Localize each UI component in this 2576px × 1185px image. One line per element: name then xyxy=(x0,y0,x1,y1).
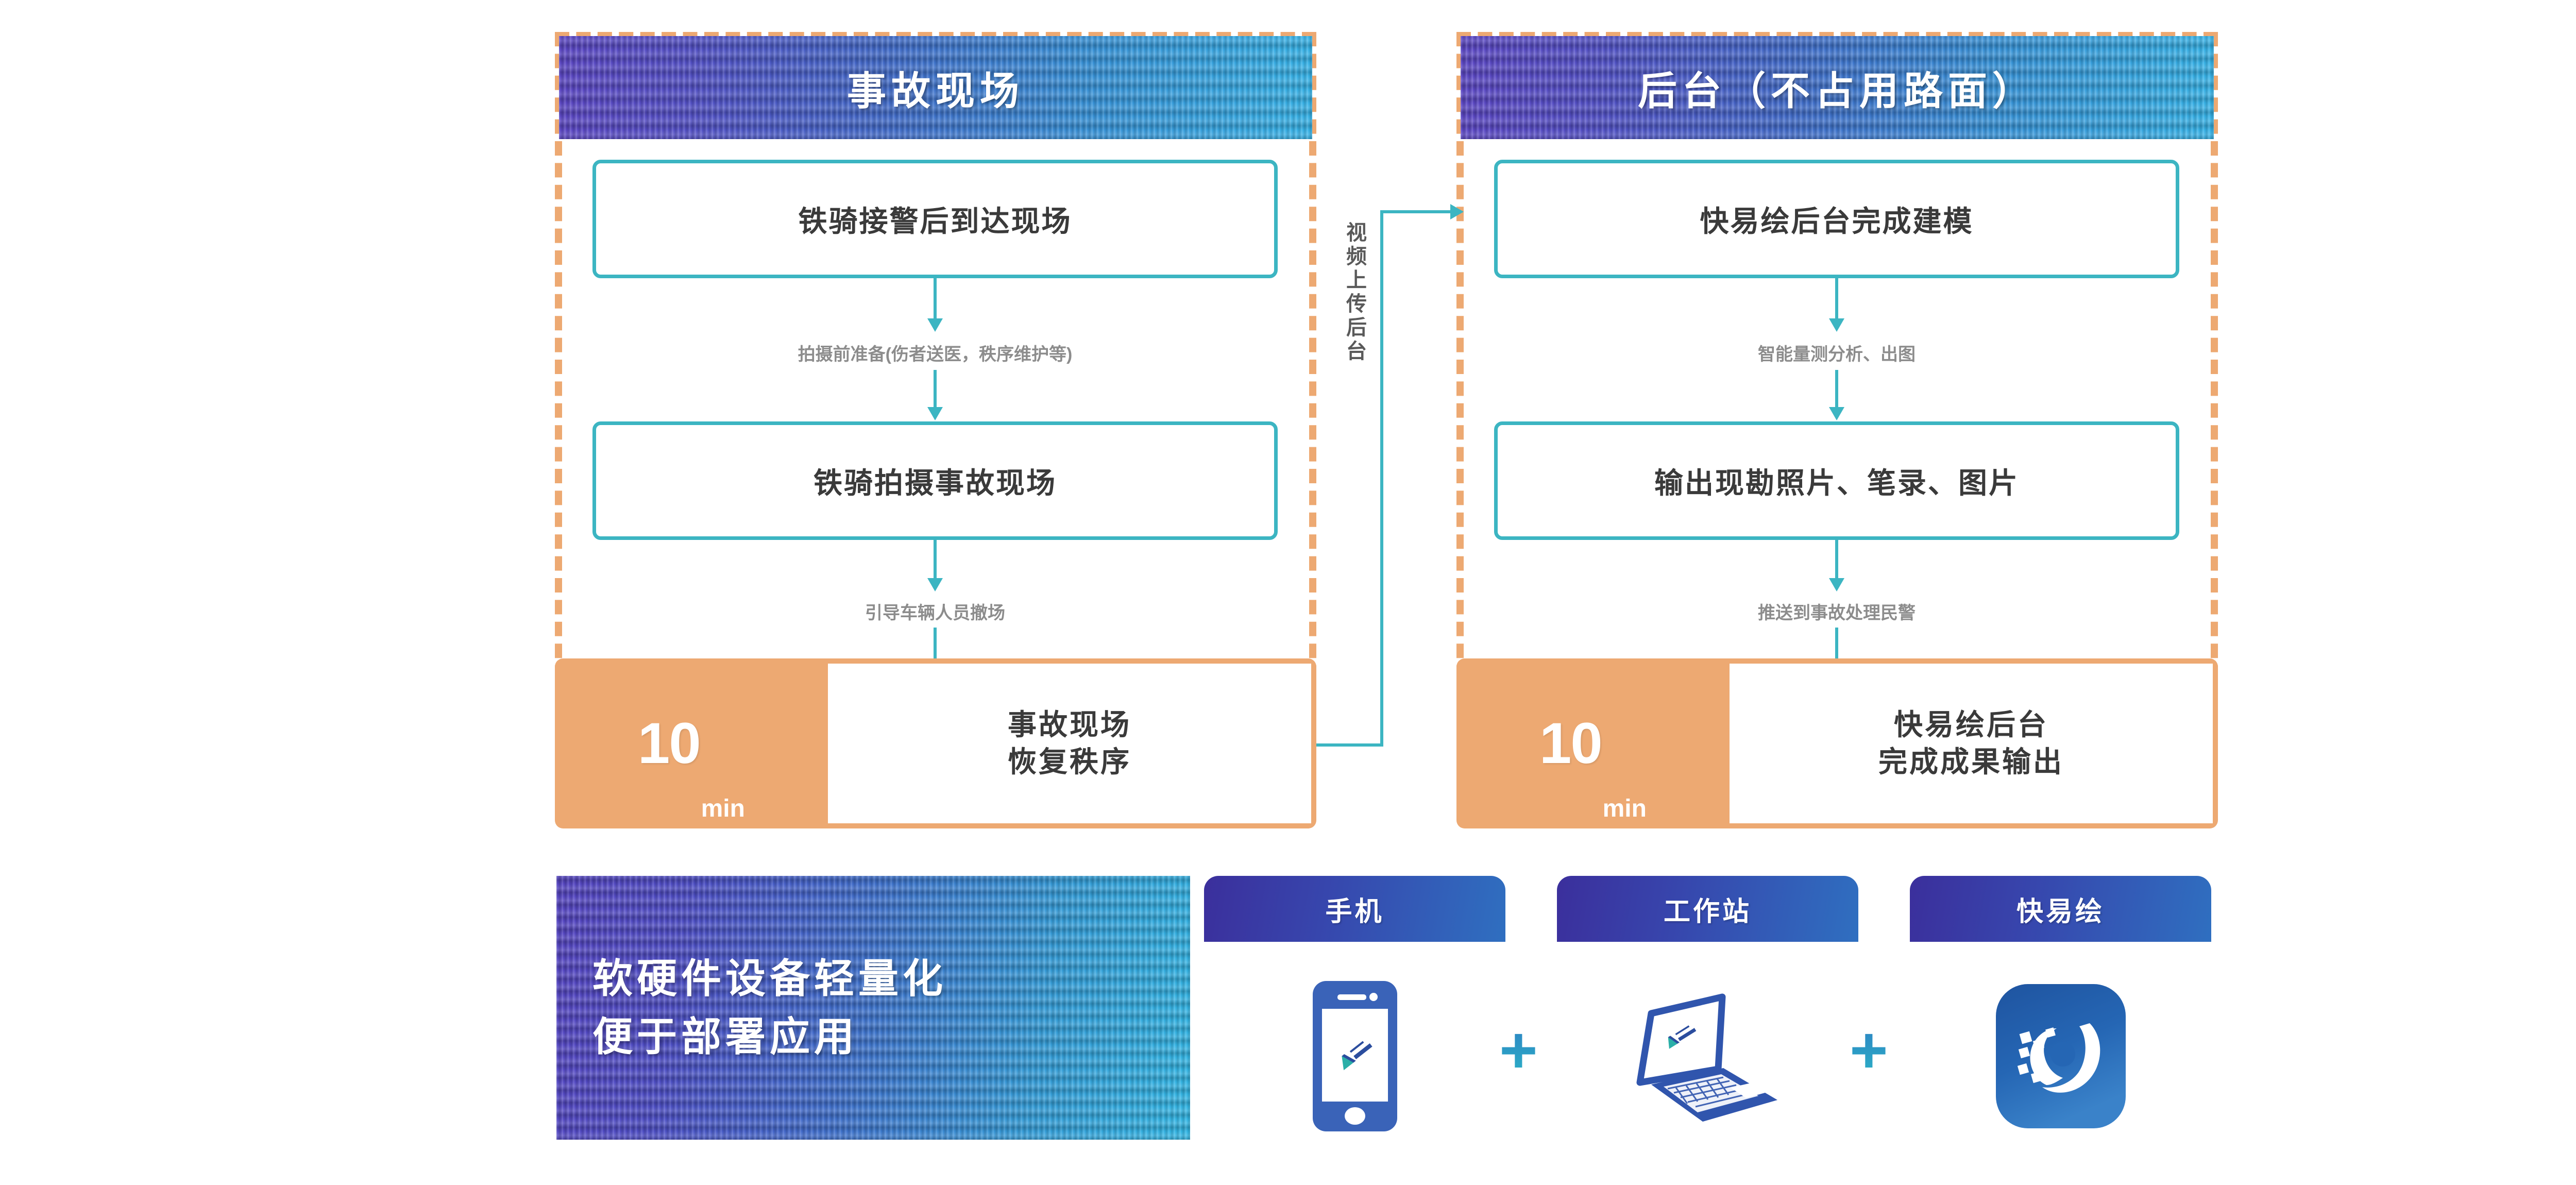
bridge-line-vertical xyxy=(1380,211,1383,747)
left-connector-1-label: 拍摄前准备(伤者送医，秩序维护等) xyxy=(613,340,1257,365)
left-arrow-2-head xyxy=(927,407,943,420)
right-arrow-1-line-lower xyxy=(1835,370,1838,411)
right-connector-2-label: 推送到事故处理民警 xyxy=(1515,599,2159,624)
app-logo-icon xyxy=(1989,979,2133,1133)
plus-separator-1: + xyxy=(1499,1018,1538,1084)
right-arrow-3-head xyxy=(1829,578,1844,591)
left-step-2-box[interactable]: 铁骑拍摄事故现场 xyxy=(592,421,1278,540)
left-arrow-3-line-upper xyxy=(934,540,937,580)
bridge-label: 视频上传后台 xyxy=(1340,222,1369,489)
right-step-2-label: 输出现勘照片、笔录、图片 xyxy=(1654,460,2019,502)
left-step-2-label: 铁骑拍摄事故现场 xyxy=(814,460,1057,502)
left-connector-2-label: 引导车辆人员撤场 xyxy=(613,599,1257,624)
right-result-box[interactable]: 10 min 快易绘后台 完成成果输出 xyxy=(1456,658,2218,828)
right-column-header-label: 后台（不占用路面） xyxy=(1638,59,2037,116)
left-column-header: 事故现场 xyxy=(559,36,1312,139)
right-result-line-2: 完成成果输出 xyxy=(1878,743,2064,781)
right-step-1-label: 快易绘后台完成建模 xyxy=(1700,198,1974,240)
left-arrow-1-line-upper xyxy=(934,278,937,319)
left-arrow-1-line-lower xyxy=(934,370,937,411)
left-result-text-panel: 事故现场 恢复秩序 xyxy=(828,664,1311,823)
left-column-header-label: 事故现场 xyxy=(847,59,1024,116)
device-chip-workstation[interactable]: 工作站 xyxy=(1557,876,1858,942)
device-chip-phone-label: 手机 xyxy=(1325,890,1384,928)
right-arrow-1-line-upper xyxy=(1835,278,1838,319)
device-chip-workstation-label: 工作站 xyxy=(1664,890,1752,928)
right-step-2-box[interactable]: 输出现勘照片、笔录、图片 xyxy=(1494,421,2179,540)
right-arrow-1-head xyxy=(1829,318,1844,332)
banner-line-1: 软硬件设备轻量化 xyxy=(592,950,947,1008)
right-result-duration-unit: min xyxy=(1603,797,1647,821)
laptop-icon xyxy=(1620,981,1790,1131)
right-result-line-1: 快易绘后台 xyxy=(1894,706,2048,743)
smartphone-icon xyxy=(1309,979,1401,1133)
right-arrow-2-head xyxy=(1829,407,1844,420)
right-step-1-box[interactable]: 快易绘后台完成建模 xyxy=(1494,160,2179,278)
right-result-duration: 10 min xyxy=(1456,658,1730,828)
left-result-box[interactable]: 10 min 事故现场 恢复秩序 xyxy=(555,658,1316,828)
bottom-banner: 软硬件设备轻量化 便于部署应用 xyxy=(556,876,1190,1140)
right-arrow-3-line-upper xyxy=(1835,540,1838,580)
right-result-duration-value: 10 xyxy=(1539,715,1602,772)
left-result-duration-unit: min xyxy=(701,797,745,821)
left-step-1-box[interactable]: 铁骑接警后到达现场 xyxy=(592,160,1278,278)
left-result-duration: 10 min xyxy=(555,658,828,828)
device-chip-app-label: 快易绘 xyxy=(2016,890,2105,928)
right-result-text-panel: 快易绘后台 完成成果输出 xyxy=(1730,664,2213,823)
bridge-arrow-head xyxy=(1450,204,1464,219)
device-chip-app[interactable]: 快易绘 xyxy=(1910,876,2211,942)
right-column-header: 后台（不占用路面） xyxy=(1461,36,2214,139)
device-chip-phone[interactable]: 手机 xyxy=(1204,876,1505,942)
plus-separator-2: + xyxy=(1850,1018,1888,1084)
banner-line-2: 便于部署应用 xyxy=(592,1008,858,1066)
bridge-line-top xyxy=(1380,210,1452,213)
left-result-line-2: 恢复秩序 xyxy=(1008,743,1131,781)
infographic-canvas: 事故现场 后台（不占用路面） 铁骑接警后到达现场 拍摄前准备(伤者送医，秩序维护… xyxy=(0,0,2576,1185)
left-arrow-3-head xyxy=(927,578,943,591)
left-step-1-label: 铁骑接警后到达现场 xyxy=(799,198,1072,240)
right-connector-1-label: 智能量测分析、出图 xyxy=(1515,340,2159,365)
left-result-duration-value: 10 xyxy=(638,715,700,772)
left-arrow-1-head xyxy=(927,318,943,332)
bridge-line-bottom xyxy=(1316,743,1383,747)
left-result-line-1: 事故现场 xyxy=(1008,706,1131,743)
